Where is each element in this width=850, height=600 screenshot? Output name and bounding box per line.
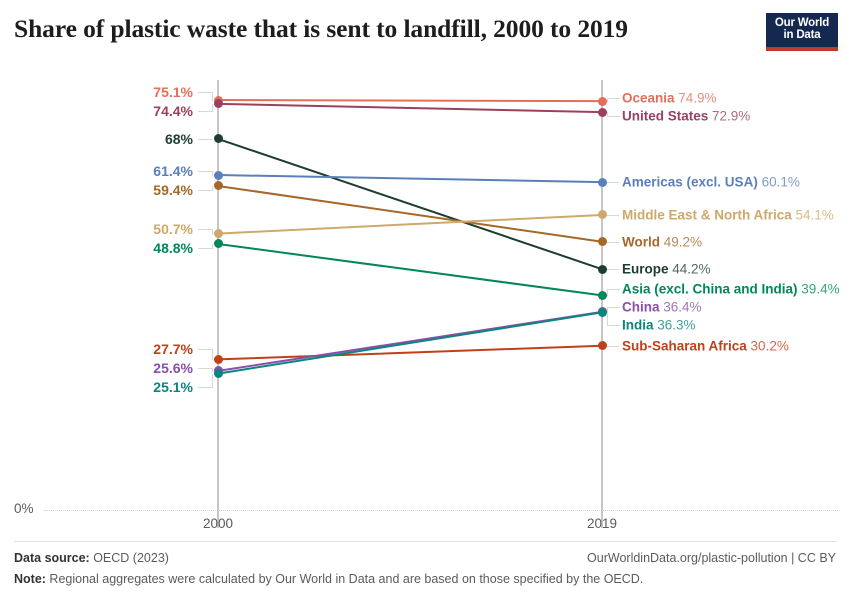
label-connector [607,312,620,325]
series-start-value-label: 59.4% [153,182,193,198]
owid-logo[interactable]: Our World in Data [766,13,838,51]
series-legend-entry[interactable]: Oceania 74.9% [622,90,717,105]
label-connector [607,182,619,183]
data-point-marker[interactable] [214,171,223,180]
data-point-marker[interactable] [598,237,607,246]
y-axis-zero-label: 0% [14,501,34,516]
series-start-value-label: 61.4% [153,163,193,179]
footer-divider [14,541,836,542]
data-point-marker[interactable] [214,99,223,108]
zero-baseline [44,510,840,511]
series-name-label: Oceania [622,90,675,105]
series-end-value-label: 49.2% [660,234,702,249]
label-connector [607,346,619,347]
series-legend-entry[interactable]: India 36.3% [622,317,696,332]
data-point-marker[interactable] [214,96,223,105]
series-name-label: India [622,317,654,332]
series-name-label: Americas (excl. USA) [622,175,758,190]
label-connector [198,186,213,191]
label-connector [607,289,620,297]
label-connector [607,98,620,103]
chart-footer: Data source: OECD (2023) OurWorldinData.… [14,548,836,590]
data-point-marker[interactable] [214,355,223,364]
marker-layer: 75.1%74.4%68%61.4%59.4%50.7%48.8%27.7%25… [0,0,850,600]
series-start-value-label: 27.7% [153,341,193,357]
note-value: Regional aggregates were calculated by O… [46,572,643,586]
line-series [218,244,602,295]
label-connector [607,215,619,216]
data-point-marker[interactable] [598,97,607,106]
data-point-marker[interactable] [598,307,607,316]
label-connector [607,112,620,117]
series-legend-entry[interactable]: World 49.2% [622,234,702,249]
series-name-label: World [622,234,660,249]
axis-line-2019 [601,80,603,528]
data-point-marker[interactable] [598,265,607,274]
footer-source-row: Data source: OECD (2023) OurWorldinData.… [14,548,836,569]
series-legend-entry[interactable]: Asia (excl. China and India) 39.4% [622,281,840,296]
series-start-value-label: 50.7% [153,221,193,237]
series-end-value-label: 36.3% [654,317,696,332]
label-connector [198,139,212,140]
line-series [218,312,602,371]
line-series [218,139,602,269]
series-legend-entry[interactable]: China 36.4% [622,299,702,314]
line-series [218,100,602,101]
data-point-marker[interactable] [214,366,223,375]
owid-logo-line2: in Data [784,30,821,42]
series-start-value-label: 74.4% [153,103,193,119]
note-label: Note: [14,572,46,586]
series-end-value-label: 74.9% [675,90,717,105]
footer-note-row: Note: Regional aggregates were calculate… [14,569,836,590]
data-point-marker[interactable] [598,341,607,350]
series-end-value-label: 36.4% [660,299,702,314]
label-connector [198,92,213,101]
source-label: Data source: [14,551,90,565]
series-legend-entry[interactable]: Europe 44.2% [622,262,711,277]
series-end-value-label: 44.2% [669,262,711,277]
label-connector [607,242,619,243]
series-legend-entry[interactable]: Middle East & North Africa 54.1% [622,207,834,222]
series-name-label: Sub-Saharan Africa [622,338,747,353]
series-end-value-label: 72.9% [708,108,750,123]
series-name-label: Asia (excl. China and India) [622,281,798,296]
data-point-marker[interactable] [214,229,223,238]
series-end-value-label: 54.1% [792,207,834,222]
label-connector [607,269,619,270]
data-point-marker[interactable] [598,108,607,117]
axis-line-2000 [217,80,219,528]
label-connector [198,349,213,360]
line-series-layer [0,0,850,600]
data-point-marker[interactable] [214,369,223,378]
series-start-value-label: 75.1% [153,84,193,100]
page-title: Share of plastic waste that is sent to l… [14,14,628,44]
source-value: OECD (2023) [90,551,169,565]
series-start-value-label: 25.6% [153,360,193,376]
series-end-value-label: 30.2% [747,338,789,353]
label-connector [198,229,213,234]
line-series [218,175,602,182]
series-name-label: China [622,299,660,314]
series-name-label: Middle East & North Africa [622,207,792,222]
series-name-label: Europe [622,262,669,277]
series-end-value-label: 60.1% [758,175,800,190]
data-point-marker[interactable] [598,178,607,187]
label-connector [198,374,213,388]
label-connector [198,104,213,113]
data-point-marker[interactable] [598,291,607,300]
series-start-value-label: 68% [165,131,193,147]
line-series [218,346,602,360]
data-point-marker[interactable] [214,239,223,248]
data-point-marker[interactable] [214,181,223,190]
line-series [218,186,602,242]
chart-header: Share of plastic waste that is sent to l… [0,0,850,66]
x-tick-2000: 2000 [183,516,253,531]
series-end-value-label: 39.4% [798,281,840,296]
chart-plot-area: 0% 2000 2019 75.1%74.4%68%61.4%59.4%50.7… [0,0,850,600]
series-start-value-label: 48.8% [153,240,193,256]
series-start-value-label: 25.1% [153,379,193,395]
line-series [218,104,602,112]
label-connector [607,307,620,313]
label-connector [198,368,213,372]
line-series [218,215,602,234]
x-tick-2019: 2019 [567,516,637,531]
series-legend-entry[interactable]: United States 72.9% [622,108,750,123]
data-point-marker[interactable] [598,308,607,317]
series-name-label: United States [622,108,708,123]
label-connector [198,244,213,249]
series-legend-entry[interactable]: Americas (excl. USA) 60.1% [622,175,800,190]
label-connector [198,171,213,176]
line-series [218,312,602,373]
data-point-marker[interactable] [214,134,223,143]
attribution-link[interactable]: OurWorldinData.org/plastic-pollution | C… [587,548,836,569]
series-legend-entry[interactable]: Sub-Saharan Africa 30.2% [622,338,789,353]
data-point-marker[interactable] [598,210,607,219]
